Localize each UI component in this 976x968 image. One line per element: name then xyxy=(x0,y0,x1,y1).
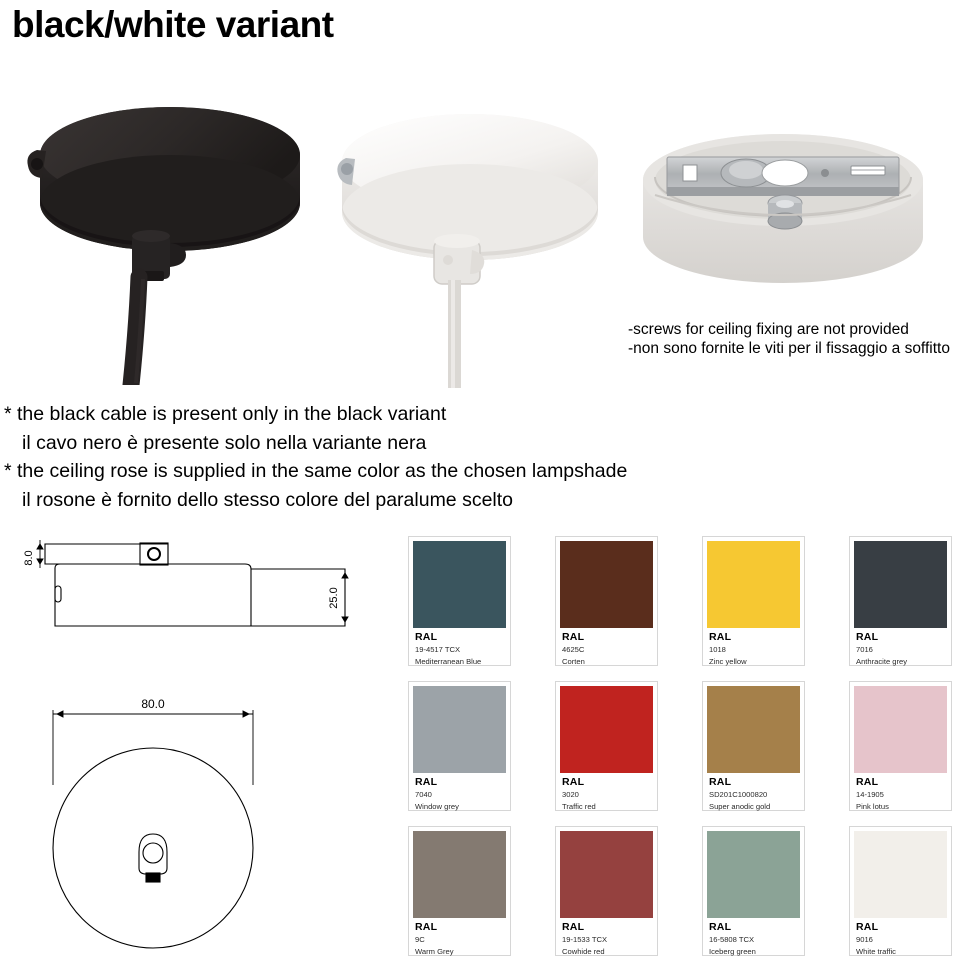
swatch-name: Anthracite grey xyxy=(856,656,947,668)
swatch-name: Zinc yellow xyxy=(709,656,800,668)
swatch-meta: RAL 3020 Traffic red xyxy=(560,773,653,812)
swatch-card[interactable]: RAL 19-1533 TCX Cowhide red xyxy=(555,826,658,956)
swatch-meta: RAL 1018 Zinc yellow xyxy=(707,628,800,667)
swatch-code: 14-1905 xyxy=(856,789,947,801)
swatch-meta: RAL 7016 Anthracite grey xyxy=(854,628,947,667)
swatch-name: Cowhide red xyxy=(562,946,653,958)
swatch-brand-label: RAL xyxy=(709,631,800,644)
swatch-code: SD201C1000820 xyxy=(709,789,800,801)
swatch-brand-label: RAL xyxy=(856,921,947,934)
swatch-brand-label: RAL xyxy=(856,631,947,644)
white-ceiling-rose-photo xyxy=(320,100,620,390)
note-1-it-text: il cavo nero è presente solo nella varia… xyxy=(4,429,627,458)
swatch-name: Super anodic gold xyxy=(709,801,800,813)
swatch-color-chip xyxy=(707,541,800,628)
swatch-color-chip xyxy=(413,541,506,628)
swatch-color-chip xyxy=(560,686,653,773)
swatch-meta: RAL 7040 Window grey xyxy=(413,773,506,812)
product-spec-sheet: black/white variant xyxy=(0,0,976,968)
swatch-code: 9016 xyxy=(856,934,947,946)
note-2-marker: * xyxy=(4,460,12,482)
swatch-meta: RAL 16-5808 TCX Iceberg green xyxy=(707,918,800,957)
bracket-interior-photo xyxy=(625,125,970,310)
swatch-card[interactable]: RAL SD201C1000820 Super anodic gold xyxy=(702,681,805,811)
swatch-code: 3020 xyxy=(562,789,653,801)
swatch-code: 19-1533 TCX xyxy=(562,934,653,946)
swatch-code: 16-5808 TCX xyxy=(709,934,800,946)
swatch-name: Iceberg green xyxy=(709,946,800,958)
swatch-brand-label: RAL xyxy=(562,776,653,789)
screws-note-it: -non sono fornite le viti per il fissagg… xyxy=(628,339,950,358)
swatch-color-chip xyxy=(707,831,800,918)
swatch-name: Corten xyxy=(562,656,653,668)
swatch-color-chip xyxy=(560,831,653,918)
note-1-en: * the black cable is present only in the… xyxy=(4,400,627,429)
swatch-meta: RAL 19-4517 TCX Mediterranean Blue xyxy=(413,628,506,667)
swatch-name: White traffic xyxy=(856,946,947,958)
swatch-card[interactable]: RAL 14-1905 Pink lotus xyxy=(849,681,952,811)
swatch-brand-label: RAL xyxy=(709,921,800,934)
swatch-code: 7040 xyxy=(415,789,506,801)
swatch-code: 19-4517 TCX xyxy=(415,644,506,656)
swatch-meta: RAL 14-1905 Pink lotus xyxy=(854,773,947,812)
swatch-color-chip xyxy=(413,686,506,773)
screws-note-en: -screws for ceiling fixing are not provi… xyxy=(628,320,950,339)
swatch-color-chip xyxy=(854,541,947,628)
swatch-meta: RAL 19-1533 TCX Cowhide red xyxy=(560,918,653,957)
swatch-name: Pink lotus xyxy=(856,801,947,813)
black-ceiling-rose-photo xyxy=(10,95,330,385)
dim-height-8: 8.0 xyxy=(23,550,35,565)
swatch-name: Traffic red xyxy=(562,801,653,813)
swatch-code: 1018 xyxy=(709,644,800,656)
swatch-code: 7016 xyxy=(856,644,947,656)
swatch-brand-label: RAL xyxy=(562,631,653,644)
dim-height-25: 25.0 xyxy=(328,587,340,608)
swatch-card[interactable]: RAL 4625C Corten xyxy=(555,536,658,666)
swatch-meta: RAL 9016 White traffic xyxy=(854,918,947,957)
swatch-card[interactable]: RAL 19-4517 TCX Mediterranean Blue xyxy=(408,536,511,666)
swatch-card[interactable]: RAL 7040 Window grey xyxy=(408,681,511,811)
swatch-name: Mediterranean Blue xyxy=(415,656,506,668)
swatch-meta: RAL 9C Warm Grey xyxy=(413,918,506,957)
asterisk-notes: * the black cable is present only in the… xyxy=(4,400,627,514)
swatch-brand-label: RAL xyxy=(415,631,506,644)
note-1-en-text: the black cable is present only in the b… xyxy=(17,403,446,425)
dim-diameter-80: 80.0 xyxy=(141,697,165,711)
note-2-it-text: il rosone è fornito dello stesso colore … xyxy=(4,486,627,515)
swatch-card[interactable]: RAL 9C Warm Grey xyxy=(408,826,511,956)
swatch-name: Window grey xyxy=(415,801,506,813)
side-elevation-drawing: 8.0 25.0 xyxy=(0,528,380,648)
swatch-color-chip xyxy=(413,831,506,918)
swatch-code: 9C xyxy=(415,934,506,946)
swatch-brand-label: RAL xyxy=(415,921,506,934)
swatch-card[interactable]: RAL 7016 Anthracite grey xyxy=(849,536,952,666)
swatch-card[interactable]: RAL 3020 Traffic red xyxy=(555,681,658,811)
color-swatch-grid: RAL 19-4517 TCX Mediterranean Blue RAL 4… xyxy=(408,536,976,968)
screws-note: -screws for ceiling fixing are not provi… xyxy=(628,320,950,358)
swatch-meta: RAL SD201C1000820 Super anodic gold xyxy=(707,773,800,812)
swatch-color-chip xyxy=(707,686,800,773)
swatch-brand-label: RAL xyxy=(415,776,506,789)
plan-view-drawing: 80.0 xyxy=(25,690,325,960)
note-1-marker: * xyxy=(4,403,12,425)
swatch-card[interactable]: RAL 9016 White traffic xyxy=(849,826,952,956)
swatch-card[interactable]: RAL 1018 Zinc yellow xyxy=(702,536,805,666)
swatch-color-chip xyxy=(560,541,653,628)
swatch-name: Warm Grey xyxy=(415,946,506,958)
swatch-meta: RAL 4625C Corten xyxy=(560,628,653,667)
swatch-brand-label: RAL xyxy=(856,776,947,789)
swatch-brand-label: RAL xyxy=(709,776,800,789)
swatch-card[interactable]: RAL 16-5808 TCX Iceberg green xyxy=(702,826,805,956)
note-2-en-text: the ceiling rose is supplied in the same… xyxy=(17,460,627,482)
swatch-color-chip xyxy=(854,831,947,918)
note-2-en: * the ceiling rose is supplied in the sa… xyxy=(4,457,627,486)
page-title: black/white variant xyxy=(12,2,334,48)
swatch-code: 4625C xyxy=(562,644,653,656)
swatch-brand-label: RAL xyxy=(562,921,653,934)
swatch-color-chip xyxy=(854,686,947,773)
